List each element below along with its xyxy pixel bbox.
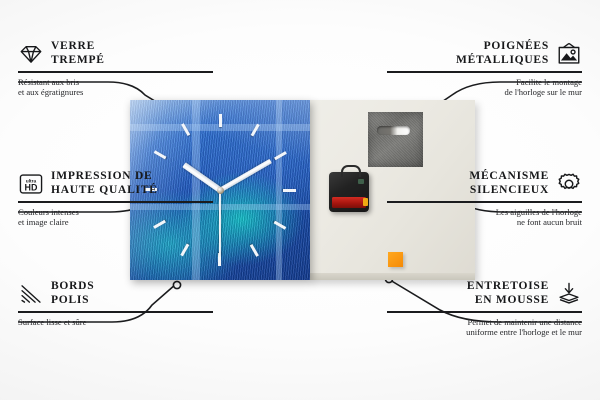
feature-rule xyxy=(18,71,213,73)
feature-title: IMPRESSION DEHAUTE QUALITÉ xyxy=(51,170,158,197)
feature-description: Couleurs intenseset image claire xyxy=(18,207,213,228)
svg-text:HD: HD xyxy=(25,182,38,192)
feature-rule xyxy=(387,311,582,313)
feature-rule xyxy=(387,201,582,203)
feature-impression-haute-qualite[interactable]: ultra HD IMPRESSION DEHAUTE QUALITÉ Coul… xyxy=(18,170,213,228)
mechanism-hook xyxy=(341,165,361,177)
mechanism-switch xyxy=(358,179,364,184)
feature-description: Facilite le montagede l'horloge sur le m… xyxy=(387,77,582,98)
second-hand xyxy=(219,190,221,256)
hour-tick xyxy=(219,108,221,190)
feature-rule xyxy=(18,311,213,313)
feature-mecanisme-silencieux[interactable]: MÉCANISMESILENCIEUX Les aiguilles de l'h… xyxy=(387,170,582,228)
feature-description: Résistant aux briset aux égratignures xyxy=(18,77,213,98)
feature-header: VERRETREMPÉ xyxy=(18,40,213,67)
feature-title: VERRETREMPÉ xyxy=(51,40,105,67)
feature-description: Permet de maintenir une distanceuniforme… xyxy=(387,317,582,338)
quartz-mechanism xyxy=(329,172,369,212)
feature-header: ENTRETOISEEN MOUSSE xyxy=(387,280,582,307)
hands-pivot xyxy=(217,187,224,194)
feature-title: BORDSPOLIS xyxy=(51,280,94,307)
feature-rule xyxy=(387,71,582,73)
feature-bords-polis[interactable]: BORDSPOLIS Surface lisse et sûre xyxy=(18,280,213,327)
infographic-stage: VERRETREMPÉ Résistant aux briset aux égr… xyxy=(0,0,600,400)
feature-verre-trempe[interactable]: VERRETREMPÉ Résistant aux briset aux égr… xyxy=(18,40,213,98)
hanger-slot xyxy=(377,126,410,135)
feature-title: POIGNÉESMÉTALLIQUES xyxy=(456,40,549,67)
feature-poignees-metalliques[interactable]: POIGNÉESMÉTALLIQUES Facilite le montaged… xyxy=(387,40,582,98)
feature-description: Surface lisse et sûre xyxy=(18,317,213,328)
battery xyxy=(332,197,366,208)
metal-hanger xyxy=(368,112,423,167)
polished-edges-icon xyxy=(18,281,44,307)
hour-tick xyxy=(220,189,302,191)
diamond-icon xyxy=(18,41,44,67)
picture-frame-icon xyxy=(556,41,582,67)
feature-header: POIGNÉESMÉTALLIQUES xyxy=(387,40,582,67)
feature-entretoise-en-mousse[interactable]: ENTRETOISEEN MOUSSE Permet de maintenir … xyxy=(387,280,582,338)
foam-spacer xyxy=(388,252,403,267)
foam-spacer-icon xyxy=(556,281,582,307)
feature-description: Les aiguilles de l'horlogene font aucun … xyxy=(387,207,582,228)
feature-rule xyxy=(18,201,213,203)
feature-title: MÉCANISMESILENCIEUX xyxy=(469,170,549,197)
feature-header: MÉCANISMESILENCIEUX xyxy=(387,170,582,197)
ultra-hd-icon: ultra HD xyxy=(18,171,44,197)
feature-header: BORDSPOLIS xyxy=(18,280,213,307)
gear-icon xyxy=(556,171,582,197)
feature-header: ultra HD IMPRESSION DEHAUTE QUALITÉ xyxy=(18,170,213,197)
feature-title: ENTRETOISEEN MOUSSE xyxy=(467,280,549,307)
